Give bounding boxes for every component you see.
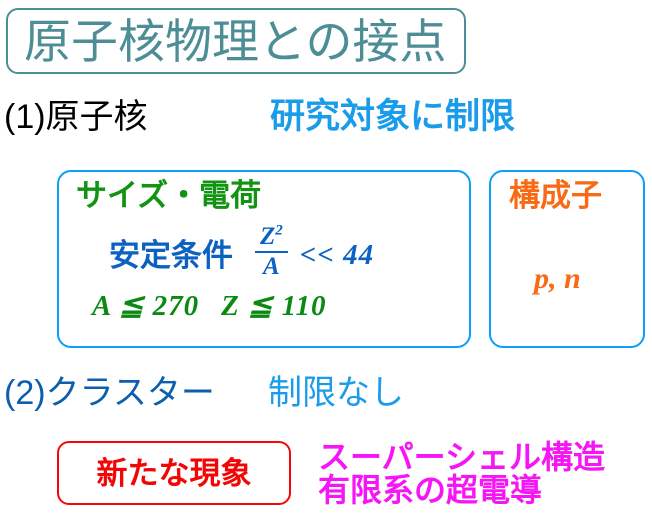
- list-item: 有限系の超電導: [318, 474, 605, 507]
- slide-canvas: 原子核物理との接点 (1)原子核 研究対象に制限 サイズ・電荷 安定条件 Z2 …: [0, 0, 652, 515]
- charge-symbol: Z: [221, 290, 240, 322]
- page-title: 原子核物理との接点: [8, 18, 447, 65]
- mass-limit-value: 270: [153, 290, 200, 322]
- stability-condition-row: 安定条件 Z2 A << 44: [109, 227, 374, 284]
- stability-condition-label: 安定条件: [109, 240, 233, 271]
- constituent-particles-label: p, n: [534, 264, 581, 294]
- fraction-numerator: Z2: [255, 224, 288, 251]
- charge-relation-symbol: ≦: [248, 290, 273, 322]
- mass-symbol: A: [92, 290, 111, 322]
- section-one-headline: 研究対象に制限: [270, 99, 515, 134]
- constituents-box: 構成子 p, n: [489, 170, 645, 348]
- section-two-label: (2)クラスター: [4, 376, 215, 410]
- fraction-denominator: A: [258, 253, 285, 280]
- new-phenomena-label: 新たな現象: [97, 458, 252, 489]
- section-two-headline: 制限なし: [268, 376, 404, 410]
- mass-charge-limits: A ≦ 270Z ≦ 110: [92, 292, 327, 321]
- list-item: スーパーシェル構造: [318, 441, 605, 474]
- constituents-title: 構成子: [509, 180, 602, 211]
- fraction-numerator-symbol: Z: [260, 223, 275, 250]
- z2-over-a-fraction: Z2 A: [255, 224, 288, 281]
- mass-relation-symbol: ≦: [119, 290, 144, 322]
- size-charge-label: サイズ・電荷: [76, 180, 261, 211]
- fraction-numerator-exponent: 2: [275, 223, 283, 239]
- nucleus-properties-box: サイズ・電荷 安定条件 Z2 A << 44 A ≦ 270Z ≦ 110: [57, 170, 471, 348]
- section-one-label: (1)原子核: [4, 100, 148, 134]
- phenomena-list: スーパーシェル構造 有限系の超電導: [318, 441, 605, 507]
- stability-inequality: << 44: [300, 241, 374, 270]
- new-phenomena-box: 新たな現象: [57, 441, 291, 505]
- slide-title-box: 原子核物理との接点: [6, 8, 466, 74]
- charge-limit-value: 110: [282, 290, 327, 322]
